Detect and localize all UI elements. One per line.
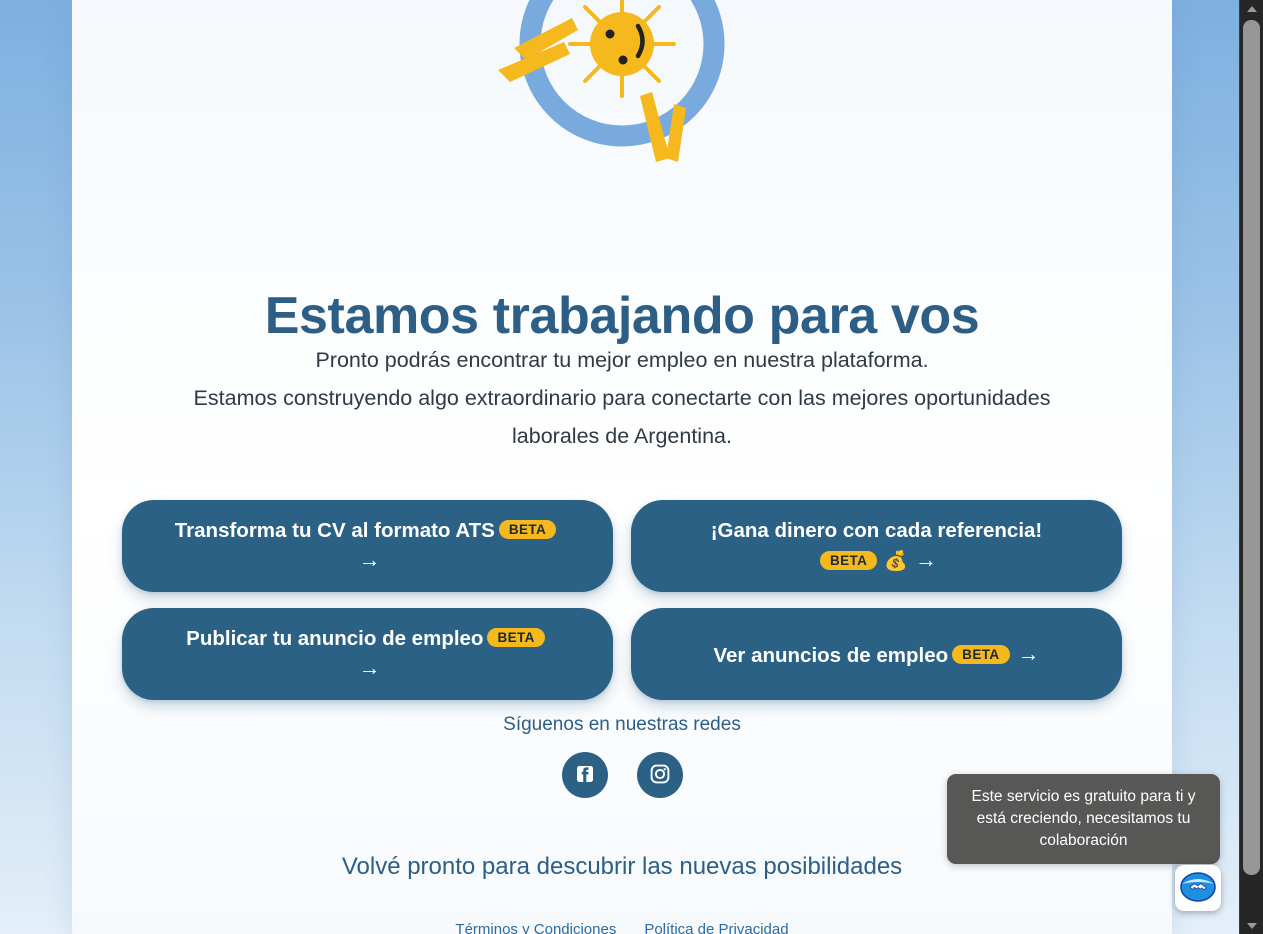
beta-badge: BETA: [952, 645, 1009, 664]
widget-tooltip: Este servicio es gratuito para ti y está…: [947, 774, 1220, 864]
handshake-icon: [1179, 868, 1217, 909]
arrow-right-icon: →: [358, 653, 380, 683]
social-link-instagram[interactable]: [637, 752, 683, 798]
footer-link-terms[interactable]: Términos y Condiciones: [455, 921, 616, 934]
arrow-right-icon: →: [915, 545, 937, 575]
page-subtitle: Pronto podrás encontrar tu mejor empleo …: [72, 341, 1172, 455]
page-title: Estamos trabajando para vos: [72, 287, 1172, 345]
footer-link-privacy[interactable]: Política de Privacidad: [644, 921, 788, 934]
facebook-icon: [573, 762, 597, 789]
arrow-right-icon: →: [1018, 639, 1040, 669]
cta-button-grid: Transforma tu CV al formato ATSBETA → ¡G…: [122, 500, 1122, 700]
subtitle-line-2: Estamos construyendo algo extraordinario…: [112, 379, 1132, 417]
cta-label: ¡Gana dinero con cada referencia!: [711, 519, 1043, 542]
social-link-facebook[interactable]: [562, 752, 608, 798]
cta-publicar-anuncio-empleo[interactable]: Publicar tu anuncio de empleoBETA →: [122, 608, 613, 700]
cta-label: Ver anuncios de empleo: [713, 644, 948, 667]
browser-viewport: Estamos trabajando para vos Pronto podrá…: [0, 0, 1263, 934]
cta-label: Transforma tu CV al formato ATS: [175, 519, 495, 542]
arrow-right-icon: →: [359, 545, 381, 575]
argentina-sun-logo: [72, 0, 1172, 174]
cta-ver-anuncios-empleo[interactable]: Ver anuncios de empleoBETA→: [631, 608, 1122, 700]
instagram-icon: [648, 762, 672, 789]
footer-links: Términos y CondicionesPolítica de Privac…: [72, 921, 1172, 934]
beta-badge: BETA: [499, 520, 556, 539]
scrollbar-down-button[interactable]: [1240, 917, 1263, 934]
scrollbar-thumb[interactable]: [1243, 20, 1260, 875]
chevron-up-icon: [1247, 6, 1257, 12]
collaboration-widget-button[interactable]: [1175, 865, 1221, 911]
cta-label: Publicar tu anuncio de empleo: [186, 627, 483, 650]
scrollbar-up-button[interactable]: [1240, 0, 1263, 17]
cta-gana-dinero-referencia[interactable]: ¡Gana dinero con cada referencia! BETA💰→: [631, 500, 1122, 592]
cta-transforma-cv-ats[interactable]: Transforma tu CV al formato ATSBETA →: [122, 500, 613, 592]
subtitle-line-1: Pronto podrás encontrar tu mejor empleo …: [112, 341, 1132, 379]
beta-badge: BETA: [487, 628, 544, 647]
beta-badge: BETA: [820, 551, 877, 570]
vertical-scrollbar[interactable]: [1239, 0, 1263, 934]
subtitle-line-3: laborales de Argentina.: [112, 417, 1132, 455]
money-bag-icon: 💰: [884, 551, 908, 572]
chevron-down-icon: [1247, 923, 1257, 929]
social-follow-label: Síguenos en nuestras redes: [72, 714, 1172, 736]
